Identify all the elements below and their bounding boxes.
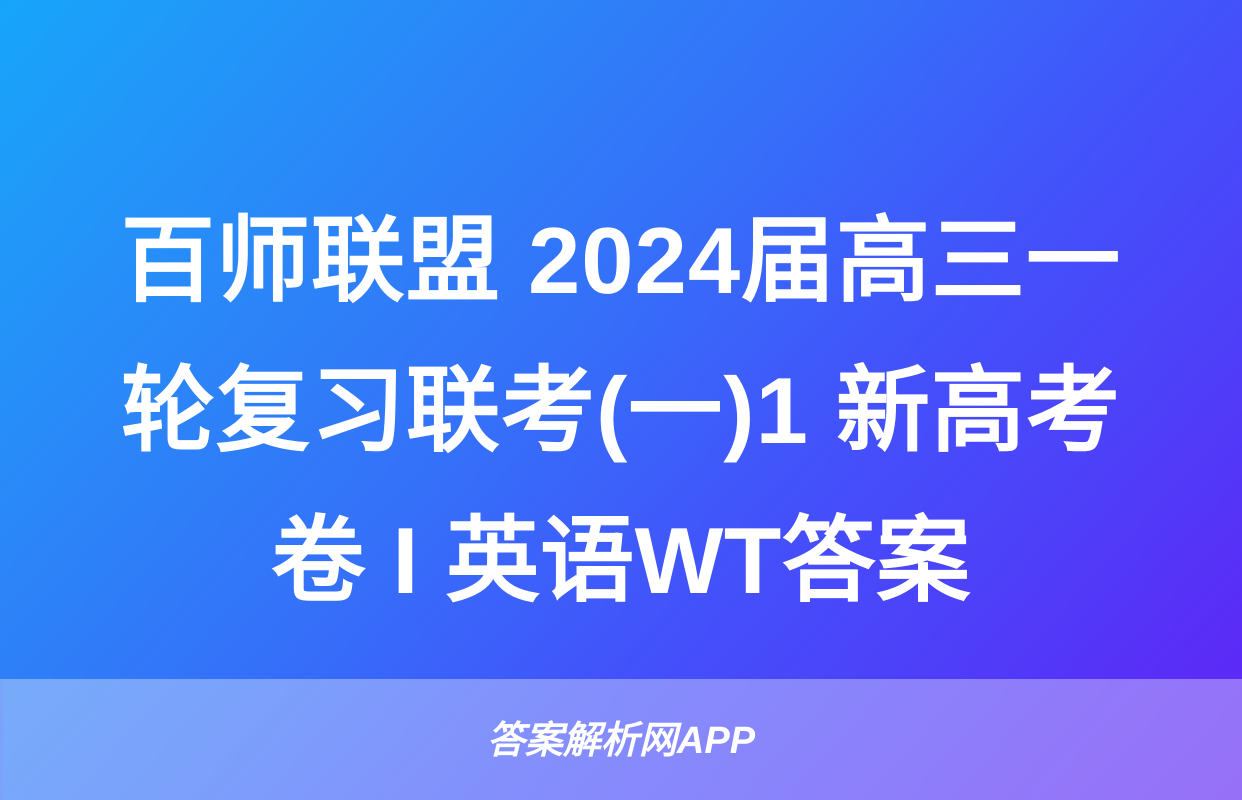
poster-canvas: 百师联盟 2024届高三一 轮复习联考(一)1 新高考 卷 I 英语WT答案 答… [0,0,1242,800]
watermark-label: 答案解析网APP [487,722,755,760]
footer-watermark-band: 答案解析网APP [0,679,1242,800]
title-line-1: 百师联盟 2024届高三一 [78,186,1164,336]
title-line-3: 卷 I 英语WT答案 [78,486,1164,636]
page-title: 百师联盟 2024届高三一 轮复习联考(一)1 新高考 卷 I 英语WT答案 [0,186,1242,636]
title-line-2: 轮复习联考(一)1 新高考 [78,336,1164,486]
